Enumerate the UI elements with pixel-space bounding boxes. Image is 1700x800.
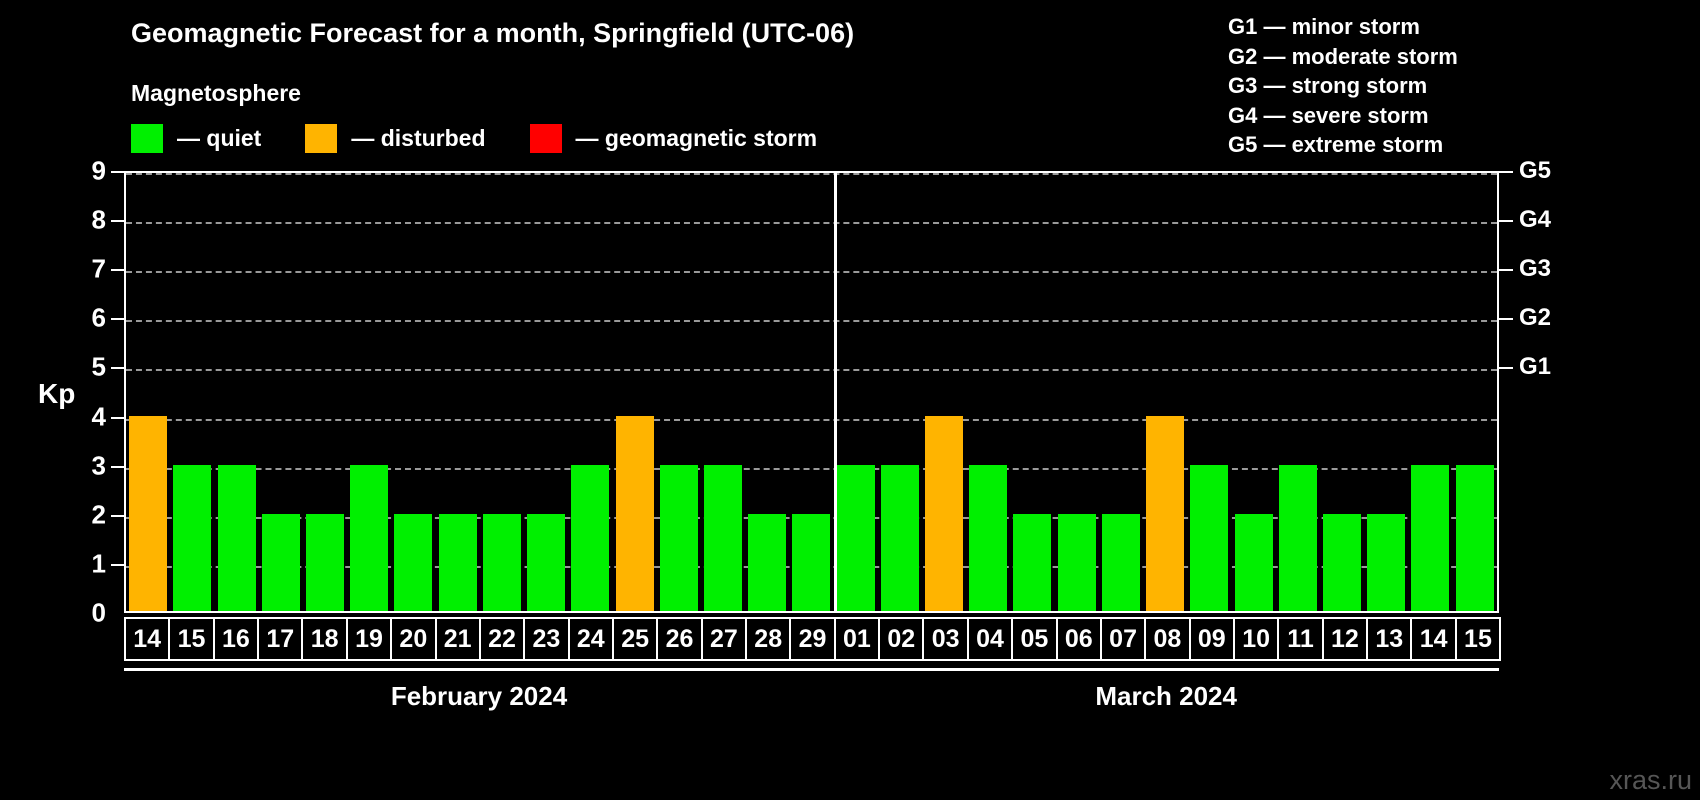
bar-27[interactable] [704,465,742,611]
bar-21[interactable] [439,514,477,611]
g-scale-list: G1 — minor stormG2 — moderate stormG3 — … [1228,12,1458,160]
y-tick-mark-5 [111,367,124,369]
bar-cell[interactable] [1276,173,1320,611]
legend-swatch-quiet [131,124,163,153]
g-tick-mark-G5 [1499,171,1513,173]
date-cell-29[interactable]: 29 [789,617,835,661]
bar-12[interactable] [1323,514,1361,611]
bar-14[interactable] [1411,465,1449,611]
bar-25[interactable] [616,416,654,611]
bar-26[interactable] [660,465,698,611]
y-tick-mark-8 [111,220,124,222]
date-cell-03[interactable]: 03 [922,617,968,661]
bar-29[interactable] [792,514,830,611]
month-caption-1: March 2024 [1095,681,1237,712]
y-tick-label-4: 4 [92,401,106,432]
bar-03[interactable] [925,416,963,611]
bar-cell[interactable] [789,173,833,611]
bar-07[interactable] [1102,514,1140,611]
legend-label-disturbed: — disturbed [351,125,485,152]
bar-series [126,173,1497,611]
g-axis-label-G2: G2 [1519,304,1551,332]
g-scale-row-3: G3 — strong storm [1228,71,1458,101]
bar-cell[interactable] [126,173,170,611]
month-divider [834,173,837,611]
bar-13[interactable] [1367,514,1405,611]
date-cell-25[interactable]: 25 [612,617,658,661]
legend-item-quiet: — quiet [131,124,305,153]
bar-cell[interactable] [170,173,214,611]
bar-cell[interactable] [1453,173,1497,611]
date-cell-06[interactable]: 06 [1056,617,1102,661]
bar-cell[interactable] [1099,173,1143,611]
bar-06[interactable] [1058,514,1096,611]
date-cell-18[interactable]: 18 [301,617,347,661]
y-tick-mark-3 [111,466,124,468]
bar-28[interactable] [748,514,786,611]
g-tick-mark-G3 [1499,269,1513,271]
axis-baseline [124,668,1499,671]
g-tick-mark-G4 [1499,220,1513,222]
date-cell-09[interactable]: 09 [1189,617,1235,661]
bar-cell[interactable] [214,173,258,611]
date-cell-19[interactable]: 19 [346,617,392,661]
bar-17[interactable] [262,514,300,611]
bar-cell[interactable] [966,173,1010,611]
bar-15[interactable] [1456,465,1494,611]
bar-24[interactable] [571,465,609,611]
date-cell-14[interactable]: 14 [1410,617,1456,661]
bar-cell[interactable] [568,173,612,611]
watermark: xras.ru [1609,765,1692,796]
bar-cell[interactable] [259,173,303,611]
bar-cell[interactable] [1010,173,1054,611]
bar-20[interactable] [394,514,432,611]
bar-cell[interactable] [391,173,435,611]
y-tick-label-9: 9 [92,156,106,187]
y-tick-mark-9 [111,171,124,173]
date-cell-20[interactable]: 20 [390,617,436,661]
bar-05[interactable] [1013,514,1051,611]
date-cell-05[interactable]: 05 [1011,617,1057,661]
date-cell-04[interactable]: 04 [967,617,1013,661]
g-scale-row-4: G4 — severe storm [1228,101,1458,131]
g-axis-label-G4: G4 [1519,206,1551,234]
date-cell-12[interactable]: 12 [1322,617,1368,661]
date-cell-17[interactable]: 17 [257,617,303,661]
month-caption-0: February 2024 [391,681,567,712]
y-tick-label-2: 2 [92,499,106,530]
chart-root: Geomagnetic Forecast for a month, Spring… [0,0,1700,800]
date-cell-23[interactable]: 23 [523,617,569,661]
bar-cell[interactable] [657,173,701,611]
page-title: Geomagnetic Forecast for a month, Spring… [131,18,854,49]
bar-cell[interactable] [1231,173,1275,611]
bar-11[interactable] [1279,465,1317,611]
y-axis: Kp 9876543210 [0,0,124,800]
bar-cell[interactable] [1143,173,1187,611]
legend-heading: Magnetosphere [131,80,301,107]
bar-cell[interactable] [834,173,878,611]
g-axis-label-G5: G5 [1519,157,1551,185]
date-cell-02[interactable]: 02 [878,617,924,661]
y-tick-mark-7 [111,269,124,271]
date-cell-15[interactable]: 15 [1455,617,1501,661]
y-tick-mark-4 [111,417,124,419]
bar-04[interactable] [969,465,1007,611]
bar-14[interactable] [129,416,167,611]
g-scale-row-5: G5 — extreme storm [1228,130,1458,160]
date-cell-27[interactable]: 27 [701,617,747,661]
y-tick-label-7: 7 [92,254,106,285]
y-tick-mark-6 [111,318,124,320]
date-cell-08[interactable]: 08 [1144,617,1190,661]
y-tick-label-3: 3 [92,450,106,481]
bar-cell[interactable] [1364,173,1408,611]
date-cell-21[interactable]: 21 [435,617,481,661]
bar-cell[interactable] [436,173,480,611]
bar-cell[interactable] [480,173,524,611]
y-axis-title: Kp [38,378,75,410]
date-axis: 1415161718192021222324252627282901020304… [124,617,1499,661]
y-tick-label-0: 0 [92,598,106,629]
plot-area [124,171,1499,613]
date-cell-26[interactable]: 26 [656,617,702,661]
legend-label-quiet: — quiet [177,125,261,152]
y-tick-label-6: 6 [92,303,106,334]
g-axis-label-G3: G3 [1519,255,1551,283]
bar-cell[interactable] [1408,173,1452,611]
y-tick-mark-1 [111,564,124,566]
bar-19[interactable] [350,465,388,611]
bar-cell[interactable] [347,173,391,611]
legend: — quiet— disturbed— geomagnetic storm [131,124,861,153]
legend-swatch-storm [530,124,562,153]
bar-08[interactable] [1146,416,1184,611]
date-cell-16[interactable]: 16 [213,617,259,661]
legend-item-disturbed: — disturbed [305,124,529,153]
legend-label-storm: — geomagnetic storm [576,125,818,152]
bar-cell[interactable] [745,173,789,611]
bar-cell[interactable] [612,173,656,611]
y-tick-mark-2 [111,515,124,517]
bar-cell[interactable] [922,173,966,611]
bar-10[interactable] [1235,514,1273,611]
date-cell-10[interactable]: 10 [1233,617,1279,661]
bar-15[interactable] [173,465,211,611]
y-tick-label-1: 1 [92,548,106,579]
bar-cell[interactable] [1320,173,1364,611]
bar-23[interactable] [527,514,565,611]
date-cell-28[interactable]: 28 [745,617,791,661]
g-axis-label-G1: G1 [1519,353,1551,381]
bar-22[interactable] [483,514,521,611]
date-cell-07[interactable]: 07 [1100,617,1146,661]
bar-16[interactable] [218,465,256,611]
legend-swatch-disturbed [305,124,337,153]
bar-cell[interactable] [878,173,922,611]
y-tick-label-8: 8 [92,205,106,236]
bar-18[interactable] [306,514,344,611]
date-cell-13[interactable]: 13 [1366,617,1412,661]
bar-02[interactable] [881,465,919,611]
g-scale-row-1: G1 — minor storm [1228,12,1458,42]
date-cell-11[interactable]: 11 [1277,617,1323,661]
bar-cell[interactable] [1055,173,1099,611]
bar-09[interactable] [1190,465,1228,611]
g-scale-row-2: G2 — moderate storm [1228,42,1458,72]
bar-cell[interactable] [303,173,347,611]
date-cell-14[interactable]: 14 [124,617,170,661]
date-cell-01[interactable]: 01 [834,617,880,661]
y-tick-label-5: 5 [92,352,106,383]
bar-cell[interactable] [1187,173,1231,611]
bar-cell[interactable] [701,173,745,611]
g-tick-mark-G1 [1499,367,1513,369]
date-cell-15[interactable]: 15 [168,617,214,661]
g-tick-mark-G2 [1499,318,1513,320]
legend-item-storm: — geomagnetic storm [530,124,862,153]
date-cell-22[interactable]: 22 [479,617,525,661]
date-cell-24[interactable]: 24 [568,617,614,661]
bar-cell[interactable] [524,173,568,611]
bar-01[interactable] [837,465,875,611]
